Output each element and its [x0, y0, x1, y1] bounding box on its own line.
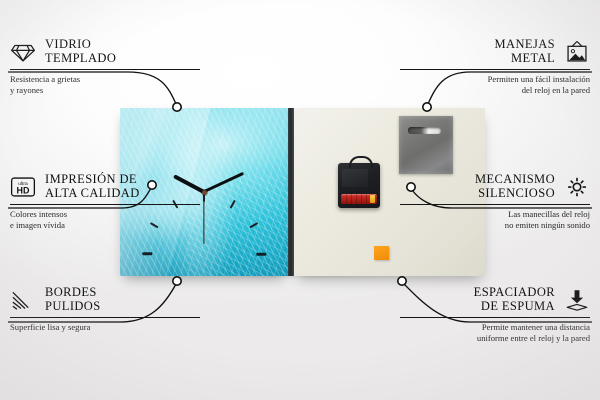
ultra-hd-icon: ultra HD	[10, 175, 36, 199]
feature-subtitle: Permiten una fácil instalación del reloj…	[400, 74, 590, 95]
feature-bordes-pulidos: Bordes Pulidos Superficie lisa y segura	[10, 286, 200, 333]
battery-terminal	[370, 195, 375, 203]
clock-center-cap	[202, 190, 207, 195]
feature-mecanismo-silencioso: Mecanismo Silencioso Las manecillas del …	[400, 173, 590, 230]
svg-text:HD: HD	[17, 185, 30, 195]
feature-title: Manejas Metal	[495, 38, 555, 65]
feature-subtitle: Resistencia a grietas y rayones	[10, 74, 200, 95]
feature-subtitle: Permite mantener una distancia uniforme …	[400, 322, 590, 343]
feature-title: Vidrio Templado	[45, 38, 116, 65]
diamond-icon	[10, 40, 36, 64]
mechanism-body-panel	[342, 169, 368, 187]
polished-edges-icon	[10, 288, 36, 312]
feature-header: Manejas Metal	[400, 38, 590, 65]
clock-mechanism	[338, 163, 380, 208]
wall-hanging-icon	[564, 40, 590, 64]
feature-espaciador-espuma: Espaciador de Espuma Permite mantener un…	[400, 286, 590, 343]
hour-tick-9	[142, 253, 152, 256]
foam-spacer-pad	[374, 246, 389, 260]
feature-header: ultra HD Impresión de Alta Calidad	[10, 173, 200, 200]
divider	[10, 204, 200, 205]
hour-tick-3	[256, 253, 266, 256]
hanger-slot	[408, 127, 441, 134]
divider	[10, 317, 200, 318]
divider	[10, 69, 200, 70]
feature-header: Vidrio Templado	[10, 38, 200, 65]
feature-title: Espaciador de Espuma	[474, 286, 555, 313]
metal-hanger-plate	[399, 116, 453, 174]
mechanism-hanger-loop	[349, 156, 373, 168]
feature-title: Impresión de Alta Calidad	[45, 173, 140, 200]
feature-subtitle: Las manecillas del reloj no emiten ningú…	[400, 209, 590, 230]
feature-subtitle: Colores intensos e imagen vívida	[10, 209, 200, 230]
divider	[400, 204, 590, 205]
feature-title: Mecanismo Silencioso	[475, 173, 555, 200]
battery-compartment	[341, 194, 377, 204]
feature-manejas-metal: Manejas Metal Permiten una fácil instala…	[400, 38, 590, 95]
divider	[400, 69, 590, 70]
feature-impresion-alta-calidad: ultra HD Impresión de Alta Calidad Color…	[10, 173, 200, 230]
feature-header: Espaciador de Espuma	[400, 286, 590, 313]
feature-vidrio-templado: Vidrio Templado Resistencia a grietas y …	[10, 38, 200, 95]
feature-subtitle: Superficie lisa y segura	[10, 322, 200, 333]
divider	[400, 317, 590, 318]
foam-spacer-icon	[564, 288, 590, 312]
hour-tick-1	[230, 200, 236, 209]
feature-title: Bordes Pulidos	[45, 286, 101, 313]
feature-header: Mecanismo Silencioso	[400, 173, 590, 200]
gear-icon	[564, 175, 590, 199]
infographic-canvas: Vidrio Templado Resistencia a grietas y …	[0, 0, 600, 400]
hour-tick-2	[249, 222, 258, 228]
feature-header: Bordes Pulidos	[10, 286, 200, 313]
minute-hand	[203, 172, 244, 194]
